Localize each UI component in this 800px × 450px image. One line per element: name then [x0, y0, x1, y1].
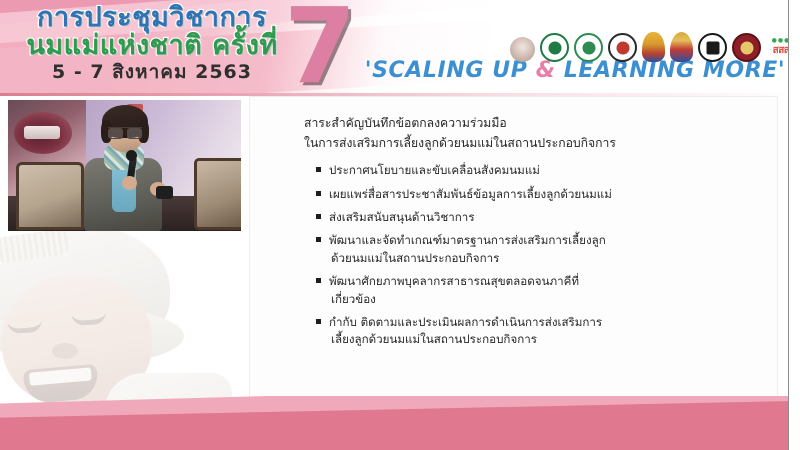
list-item: ส่งเสริมสนับสนุนด้านวิชาการ	[316, 209, 761, 226]
right-gutter	[789, 0, 800, 450]
slide-content-inner: สาระสำคัญบันทึกข้อตกลงความร่วมมือ ในการส…	[250, 97, 777, 407]
content-heading-line2: ในการส่งเสริมการเลี้ยงลูกด้วยนมแม่ในสถาน…	[304, 133, 761, 153]
speaker-hand-left	[122, 176, 137, 190]
royal-seal-logo	[510, 37, 535, 62]
maroon-seal-logo	[732, 33, 761, 62]
square-bullet-icon	[316, 167, 321, 172]
list-item-line2: เลี้ยงลูกด้วยนมแม่ในสถานประกอบกิจการ	[329, 331, 761, 348]
list-item: พัฒนาและจัดทำเกณฑ์มาตรฐานการส่งเสริมการเ…	[316, 232, 761, 267]
footer-band-solid	[0, 432, 800, 450]
list-item: เผยแพร่สื่อสารประชาสัมพันธ์ข้อมูลการเลี้…	[316, 186, 761, 203]
list-item: พัฒนาศักยภาพบุคลากรสาธารณสุขตลอดจนภาคีที…	[316, 273, 761, 308]
conference-date: 5 - 7 สิงหาคม 2563	[22, 63, 282, 82]
ministry-green-logo-1	[540, 33, 569, 62]
conference-title-line2: นมแม่แห่งชาติ ครั้งที่	[22, 32, 282, 59]
square-bullet-icon	[316, 278, 321, 283]
square-bullet-icon	[316, 191, 321, 196]
royal-crest-logo	[642, 32, 665, 62]
stage-chair-left	[16, 162, 84, 230]
list-item-line2: เกี่ยวข้อง	[329, 291, 761, 308]
list-item-line1: พัฒนาและจัดทำเกณฑ์มาตรฐานการส่งเสริมการเ…	[329, 232, 761, 249]
royal-crown-logo	[670, 32, 693, 62]
list-item-line1: เผยแพร่สื่อสารประชาสัมพันธ์ข้อมูลการเลี้…	[329, 186, 761, 203]
speaker-glasses	[108, 127, 142, 137]
right-edge-rule	[788, 0, 789, 450]
slide-header-banner: การประชุมวิชาการ นมแม่แห่งชาติ ครั้งที่ …	[0, 0, 800, 96]
list-item-line1: ประกาศนโยบายและขับเคลื่อนสังคมนมแม่	[329, 162, 761, 179]
content-heading-line1: สาระสำคัญบันทึกข้อตกลงความร่วมมือ	[304, 113, 761, 133]
conference-title-line1: การประชุมวิชาการ	[22, 4, 282, 31]
stage-chair-right	[194, 158, 241, 230]
list-item-line2: ด้วยนมแม่ในสถานประกอบกิจการ	[329, 250, 761, 267]
black-ring-logo	[698, 33, 727, 62]
list-item-line1: ส่งเสริมสนับสนุนด้านวิชาการ	[329, 209, 761, 226]
presenter-clicker-icon	[156, 186, 173, 199]
list-item: ประกาศนโยบายและขับเคลื่อนสังคมนมแม่	[316, 162, 761, 179]
presentation-slide: การประชุมวิชาการ นมแม่แห่งชาติ ครั้งที่ …	[0, 0, 800, 450]
red-ring-logo	[608, 33, 637, 62]
square-bullet-icon	[316, 214, 321, 219]
list-item-line1: พัฒนาศักยภาพบุคลากรสาธารณสุขตลอดจนภาคีที…	[329, 273, 761, 290]
list-item: กำกับ ติดตามและประเมินผลการดำเนินการส่งเ…	[316, 314, 761, 349]
content-heading: สาระสำคัญบันทึกข้อตกลงความร่วมมือ ในการส…	[304, 113, 761, 153]
square-bullet-icon	[316, 319, 321, 324]
child-nose	[52, 343, 78, 359]
sponsor-logo-strip: ●●● สสส	[510, 22, 796, 62]
list-item-line1: กำกับ ติดตามและประเมินผลการดำเนินการส่งเ…	[329, 314, 761, 331]
edition-number: 7	[284, 0, 356, 96]
slide-content-panel: สาระสำคัญบันทึกข้อตกลงความร่วมมือ ในการส…	[249, 96, 778, 408]
microphone-head-icon	[126, 150, 137, 161]
conference-title-block: การประชุมวิชาการ นมแม่แห่งชาติ ครั้งที่ …	[22, 4, 282, 82]
child-teeth	[29, 367, 92, 385]
ministry-green-logo-2	[574, 33, 603, 62]
slide-footer-band	[0, 396, 800, 450]
square-bullet-icon	[316, 237, 321, 242]
speaker-video[interactable]	[8, 100, 241, 231]
commitment-bullet-list: ประกาศนโยบายและขับเคลื่อนสังคมนมแม่ เผยแ…	[266, 162, 761, 349]
backdrop-teeth-graphic	[24, 126, 60, 139]
